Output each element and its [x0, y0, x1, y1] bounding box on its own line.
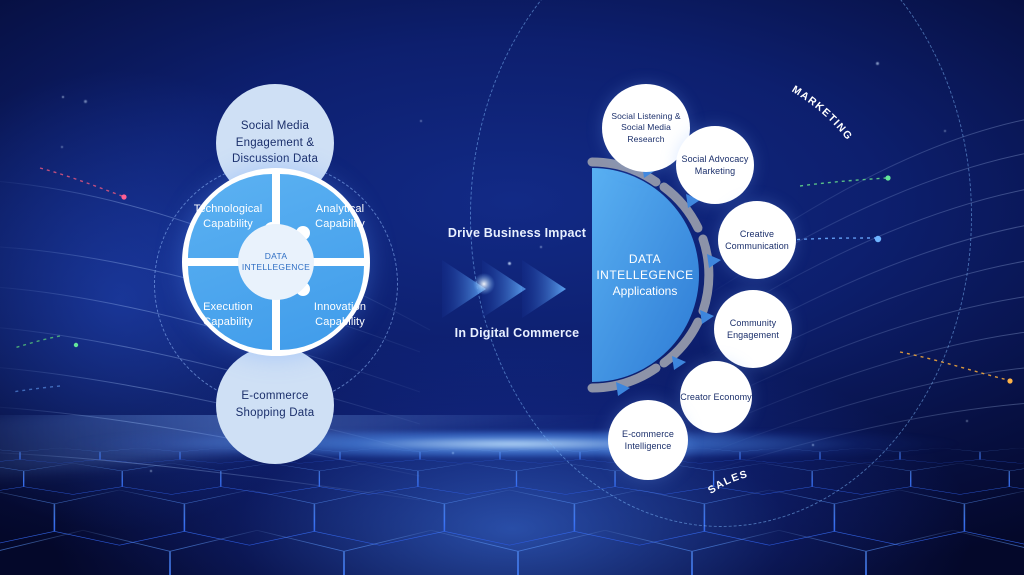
- marketing-label-text: MARKETING: [790, 83, 855, 143]
- infographic-canvas: MARKETING SALES Social Media Engagement …: [0, 0, 1024, 575]
- application-bubble-ecommerce-intelligence[interactable]: E-commerce Intelligence: [608, 400, 688, 480]
- application-label-community-engagement: Community Engagement: [714, 317, 792, 341]
- data-source-ecommerce-label: E-commerce Shopping Data: [216, 388, 334, 421]
- chevron-sparkle: [473, 273, 495, 295]
- application-label-ecommerce-intelligence: E-commerce Intelligence: [608, 428, 688, 452]
- capability-wheel: Social Media Engagement & Discussion Dat…: [160, 84, 390, 464]
- sales-label-text: SALES: [706, 468, 750, 496]
- applications-hub-line1: DATA: [629, 251, 661, 267]
- quadrant-innovation-label: Innovation Capability: [297, 300, 383, 330]
- marketing-orbit-label: MARKETING: [780, 80, 950, 220]
- data-source-ecommerce[interactable]: E-commerce Shopping Data: [216, 346, 334, 464]
- sales-orbit-label: SALES: [700, 460, 850, 520]
- application-bubble-creative-communication[interactable]: Creative Communication: [718, 201, 796, 279]
- application-label-creator-economy: Creator Economy: [680, 391, 752, 403]
- quadrant-analytical-label: Analytical Capability: [297, 202, 383, 232]
- application-bubble-community-engagement[interactable]: Community Engagement: [714, 290, 792, 368]
- application-label-social-listening: Social Listening & Social Media Research: [602, 111, 690, 145]
- applications-hub-label[interactable]: DATA INTELLEGENCE Applications: [590, 170, 700, 380]
- wheel-hub-line1: DATA: [265, 251, 288, 262]
- applications-hub-line2: INTELLEGENCE: [596, 267, 693, 283]
- wheel-hub[interactable]: DATA INTELLEGENCE: [238, 224, 314, 300]
- data-source-social-media-label: Social Media Engagement & Discussion Dat…: [216, 118, 334, 168]
- wheel-hub-line2: INTELLEGENCE: [242, 262, 310, 273]
- quadrant-execution-label: Execution Capability: [185, 300, 271, 330]
- applications-hub-line3: Applications: [613, 283, 678, 299]
- application-label-creative-communication: Creative Communication: [718, 228, 796, 252]
